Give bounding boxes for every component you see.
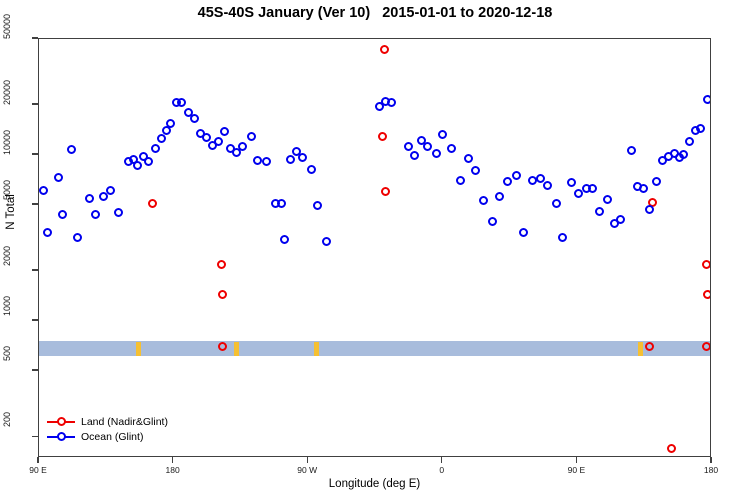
data-point xyxy=(378,132,387,141)
data-point xyxy=(247,132,256,141)
x-tick-mark xyxy=(172,457,173,463)
data-point xyxy=(262,157,271,166)
data-point xyxy=(380,45,389,54)
x-axis-label: Longitude (deg E) xyxy=(38,478,711,490)
data-point xyxy=(217,260,226,269)
data-point xyxy=(479,196,488,205)
legend: Land (Nadir&Glint)Ocean (Glint) xyxy=(47,414,168,444)
data-point xyxy=(114,208,123,217)
y-tick-label: 5000 xyxy=(2,180,12,226)
legend-marker-icon xyxy=(47,415,75,428)
data-point xyxy=(238,142,247,151)
data-point xyxy=(151,144,160,153)
plot-area xyxy=(38,38,711,457)
data-point xyxy=(58,210,67,219)
data-point xyxy=(639,184,648,193)
data-point xyxy=(54,173,63,182)
data-point xyxy=(552,199,561,208)
data-point xyxy=(685,137,694,146)
data-point xyxy=(512,171,521,180)
band-mark xyxy=(234,342,239,356)
x-tick-label: 90 E xyxy=(568,465,586,475)
y-tick-label: 10000 xyxy=(2,130,12,176)
x-tick-label: 180 xyxy=(166,465,180,475)
data-point xyxy=(218,290,227,299)
x-tick-mark xyxy=(710,457,711,463)
page-title: 45S-40S January (Ver 10) 2015-01-01 to 2… xyxy=(0,5,750,21)
legend-item[interactable]: Land (Nadir&Glint) xyxy=(47,414,168,429)
legend-item-label: Ocean (Glint) xyxy=(81,431,143,443)
legend-item-label: Land (Nadir&Glint) xyxy=(81,416,168,428)
x-tick-mark xyxy=(441,457,442,463)
data-point xyxy=(696,124,705,133)
data-point xyxy=(438,130,447,139)
data-point xyxy=(616,215,625,224)
data-point xyxy=(177,98,186,107)
data-point xyxy=(423,142,432,151)
data-point xyxy=(133,161,142,170)
data-point xyxy=(703,290,711,299)
data-point xyxy=(144,157,153,166)
y-tick-label: 20000 xyxy=(2,80,12,126)
data-point xyxy=(595,207,604,216)
data-point xyxy=(603,195,612,204)
y-tick-label: 1000 xyxy=(2,296,12,342)
band-mark xyxy=(638,342,643,356)
y-tick-label: 50000 xyxy=(2,14,12,60)
data-point xyxy=(503,177,512,186)
y-tick-label: 200 xyxy=(2,412,12,458)
data-point xyxy=(558,233,567,242)
data-point xyxy=(148,199,157,208)
data-point xyxy=(91,210,100,219)
data-point xyxy=(253,156,262,165)
x-tick-label: 180 xyxy=(704,465,718,475)
data-point xyxy=(85,194,94,203)
data-point xyxy=(702,260,711,269)
data-point xyxy=(298,153,307,162)
data-point xyxy=(702,342,711,351)
legend-marker-icon xyxy=(47,430,75,443)
data-point xyxy=(652,177,661,186)
data-point xyxy=(190,114,199,123)
x-tick-label: 0 xyxy=(439,465,444,475)
data-point xyxy=(214,137,223,146)
data-point xyxy=(307,165,316,174)
data-point xyxy=(280,235,289,244)
data-point xyxy=(519,228,528,237)
data-point xyxy=(277,199,286,208)
data-point xyxy=(73,233,82,242)
data-point xyxy=(667,444,676,453)
data-point xyxy=(456,176,465,185)
data-point xyxy=(322,237,331,246)
y-tick-label: 500 xyxy=(2,346,12,392)
scatter-plot-figure: 45S-40S January (Ver 10) 2015-01-01 to 2… xyxy=(0,0,750,500)
x-tick-mark xyxy=(37,457,38,463)
band-mark xyxy=(136,342,141,356)
data-point xyxy=(488,217,497,226)
data-point xyxy=(645,205,654,214)
data-point xyxy=(157,134,166,143)
data-point xyxy=(703,95,711,104)
data-point xyxy=(410,151,419,160)
data-point xyxy=(313,201,322,210)
data-point xyxy=(432,149,441,158)
legend-item[interactable]: Ocean (Glint) xyxy=(47,429,168,444)
data-point xyxy=(588,184,597,193)
x-tick-mark xyxy=(576,457,577,463)
data-point xyxy=(387,98,396,107)
data-point xyxy=(404,142,413,151)
data-point xyxy=(543,181,552,190)
y-tick-label: 2000 xyxy=(2,246,12,292)
data-point xyxy=(381,187,390,196)
data-point xyxy=(286,155,295,164)
x-tick-mark xyxy=(307,457,308,463)
data-point xyxy=(471,166,480,175)
band-mark xyxy=(314,342,319,356)
data-point xyxy=(67,145,76,154)
data-point xyxy=(679,150,688,159)
data-point xyxy=(39,186,48,195)
x-tick-label: 90 W xyxy=(297,465,317,475)
data-point xyxy=(567,178,576,187)
data-point xyxy=(43,228,52,237)
data-point xyxy=(627,146,636,155)
x-tick-label: 90 E xyxy=(29,465,47,475)
data-point xyxy=(220,127,229,136)
data-point xyxy=(495,192,504,201)
data-point xyxy=(106,186,115,195)
data-point xyxy=(447,144,456,153)
data-point xyxy=(464,154,473,163)
data-point xyxy=(166,119,175,128)
